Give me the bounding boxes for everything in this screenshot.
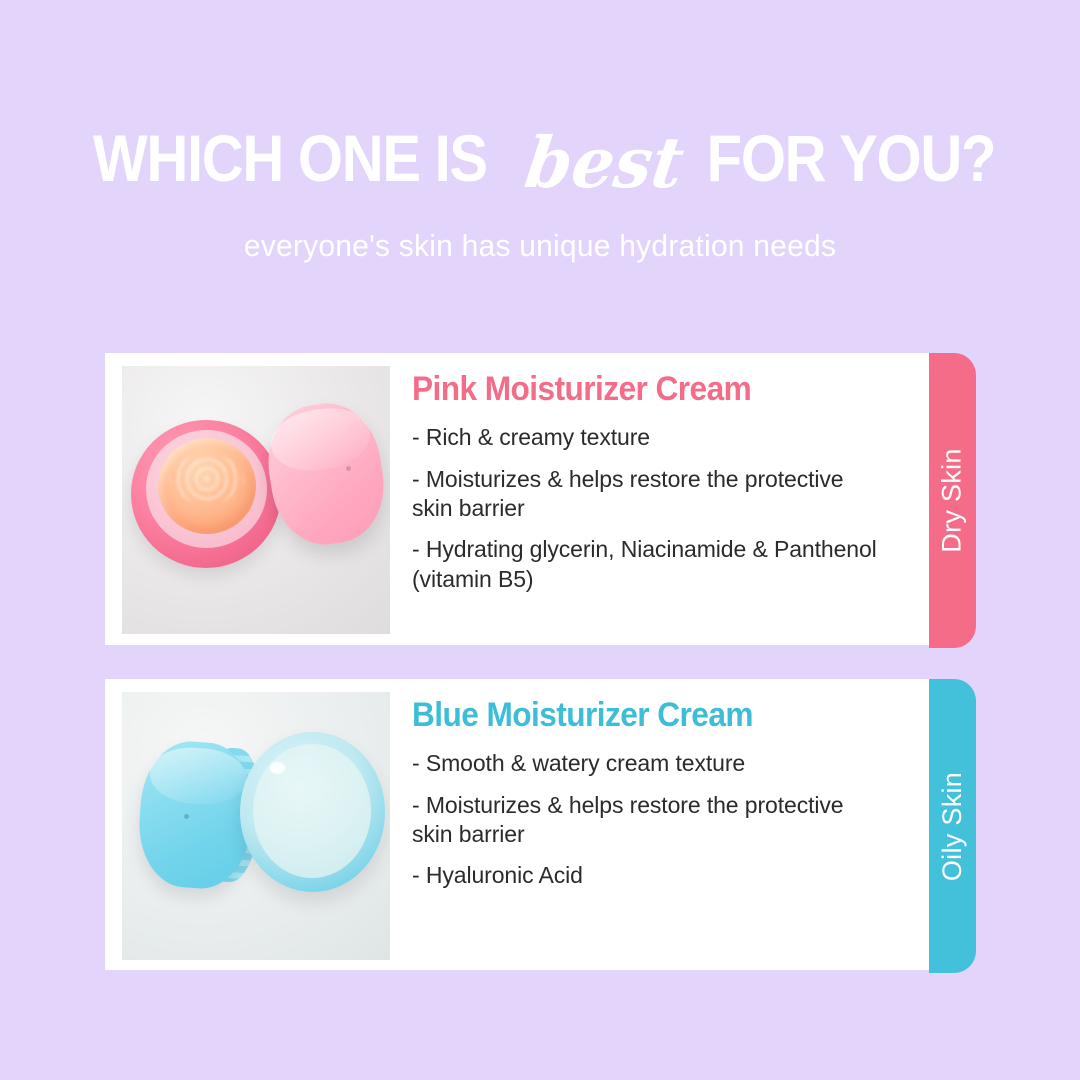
product-bullet: - Moisturizes & helps restore the protec…	[412, 465, 887, 524]
header: WHICH ONE IS best FOR YOU? everyone's sk…	[0, 122, 1080, 264]
pink-jar-lid	[260, 396, 390, 552]
product-title-pink: Pink Moisturizer Cream	[412, 370, 893, 409]
blue-jar-lid-dot	[184, 814, 189, 819]
pink-jar-lid-dot	[346, 466, 351, 471]
blue-jar-highlight	[270, 762, 285, 774]
skin-type-tab-dry[interactable]: Dry Skin	[929, 353, 976, 648]
product-bullet: - Hydrating glycerin, Niacinamide & Pant…	[412, 535, 887, 594]
skin-type-tab-label: Oily Skin	[937, 771, 968, 880]
product-card-pink[interactable]: Pink Moisturizer Cream - Rich & creamy t…	[105, 353, 929, 645]
skin-type-tab-oily[interactable]: Oily Skin	[929, 679, 976, 973]
headline-part-2: FOR YOU?	[706, 125, 994, 191]
pink-jar-photo	[122, 366, 390, 634]
product-bullet: - Moisturizes & helps restore the protec…	[412, 791, 887, 850]
skin-type-tab-label: Dry Skin	[937, 448, 968, 552]
blue-jar-photo	[122, 692, 390, 960]
subheadline: everyone's skin has unique hydration nee…	[16, 228, 1064, 264]
product-bullet: - Smooth & watery cream texture	[412, 749, 887, 778]
product-image-pink	[122, 366, 390, 634]
product-info-blue: Blue Moisturizer Cream - Smooth & watery…	[390, 679, 929, 891]
headline-script-word: best	[518, 128, 692, 198]
product-bullet: - Hyaluronic Acid	[412, 861, 887, 890]
product-card-blue[interactable]: Blue Moisturizer Cream - Smooth & watery…	[105, 679, 929, 970]
product-info-pink: Pink Moisturizer Cream - Rich & creamy t…	[390, 353, 929, 594]
pink-jar-cream-swirl	[170, 454, 244, 504]
product-image-blue	[122, 692, 390, 960]
infographic-canvas: WHICH ONE IS best FOR YOU? everyone's sk…	[0, 0, 1080, 1080]
headline-part-1: WHICH ONE IS	[93, 125, 487, 191]
product-title-blue: Blue Moisturizer Cream	[412, 696, 893, 735]
headline: WHICH ONE IS best FOR YOU?	[0, 122, 1080, 208]
product-bullet: - Rich & creamy texture	[412, 423, 887, 452]
